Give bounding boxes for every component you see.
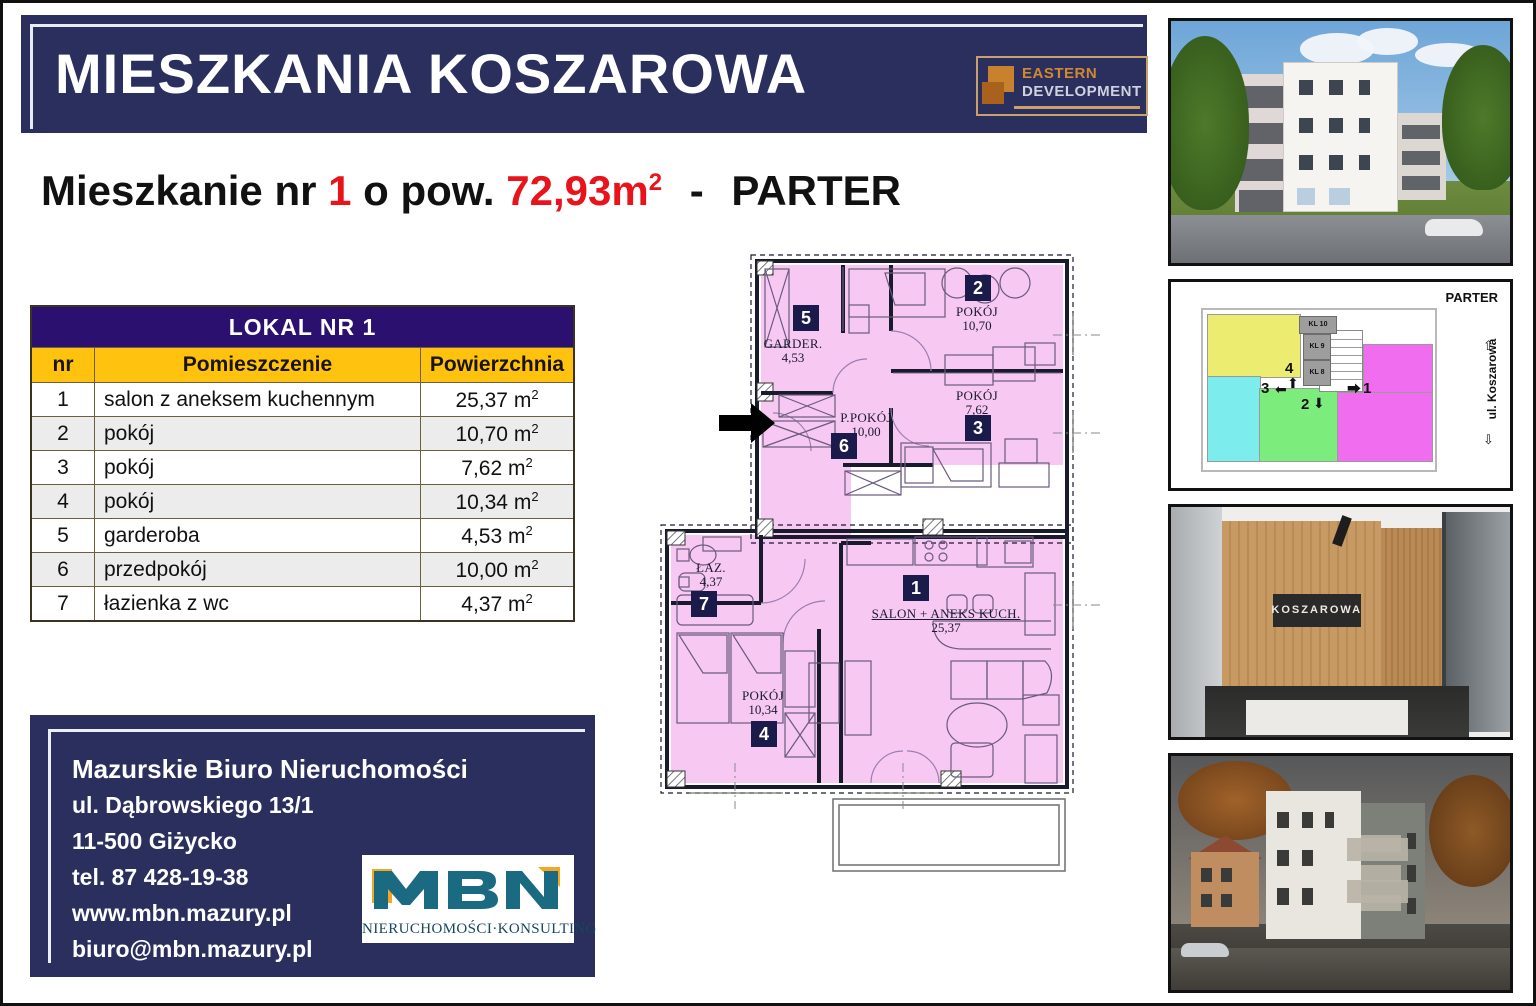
cell-room-name: przedpokój	[95, 553, 421, 587]
table-row: 7łazienka z wc4,37 m2	[31, 587, 574, 622]
lobby-sign-text: KOSZAROWA	[1271, 604, 1362, 616]
cell-room-name: pokój	[95, 451, 421, 485]
building-main	[1283, 62, 1398, 212]
lobby-sign: KOSZAROWA	[1273, 594, 1361, 626]
keyplan-unit-3[interactable]	[1207, 376, 1261, 462]
keyplan-number-2: 2	[1301, 396, 1309, 413]
cell-room-name: łazienka z wc	[95, 587, 421, 622]
table-row: 4pokój10,34 m2	[31, 485, 574, 519]
arrow-down-icon: ⇩	[1483, 432, 1494, 448]
cell-area: 10,00 m2	[421, 553, 575, 587]
header-banner: MIESZKANIA KOSZAROWA EASTERN DEVELOPMENT	[21, 15, 1147, 133]
room-label-pokoj-2: POKÓJ 10,70	[927, 305, 1027, 333]
room-label-salon: SALON + ANEKS KUCH. 25,37	[851, 607, 1041, 635]
table-row: 6przedpokój10,00 m2	[31, 553, 574, 587]
agency-city: 11-500 Giżycko	[72, 823, 468, 859]
car-icon	[1425, 219, 1483, 236]
logo-underline	[1014, 106, 1140, 109]
mbn-logo-subtitle: NIERUCHOMOŚCI·KONSULTING	[362, 921, 574, 938]
room-label-garderoba: GARDER. 4,53	[741, 337, 845, 365]
storage-kl-10: KL 10	[1299, 316, 1337, 334]
agency-contact-block: Mazurskie Biuro Nieruchomości ul. Dąbrow…	[30, 715, 595, 977]
logo-text-development: DEVELOPMENT	[1022, 83, 1142, 100]
cell-area: 25,37 m2	[421, 383, 575, 417]
keyplan-arrow-2: ⬇	[1313, 396, 1325, 410]
room-badge-2: 2	[965, 275, 991, 301]
room-badge-1: 1	[903, 575, 929, 601]
building-main-dusk	[1266, 791, 1361, 938]
agency-name: Mazurskie Biuro Nieruchomości	[72, 751, 468, 787]
street-indicator: ⇧ ul. Koszarowa ⇩	[1480, 338, 1502, 448]
table-title: LOKAL NR 1	[31, 306, 574, 348]
apartment-subtitle: Mieszkanie nr 1 o pow. 72,93m2 - PARTER	[41, 158, 901, 216]
neighbour-house	[1191, 852, 1259, 927]
keyplan-arrow-3: ⬅	[1275, 382, 1287, 396]
keyplan-number-1: 1	[1363, 380, 1371, 397]
subtitle-unit: m	[611, 167, 648, 214]
subtitle-middle: o pow.	[363, 167, 494, 214]
cell-nr: 7	[31, 587, 95, 622]
logo-text-eastern: EASTERN	[1022, 65, 1097, 82]
subtitle-area: 72,93	[506, 167, 611, 214]
subtitle-unit-exponent: 2	[649, 169, 662, 196]
subtitle-floor: PARTER	[731, 167, 901, 214]
cell-nr: 4	[31, 485, 95, 519]
room-badge-6: 6	[831, 433, 857, 459]
cell-room-name: garderoba	[95, 519, 421, 553]
cell-room-name: pokój	[95, 485, 421, 519]
page-title: MIESZKANIA KOSZAROWA	[55, 43, 807, 105]
keyplan-unit-1-lower[interactable]	[1337, 392, 1433, 462]
room-label-przedpokoj: P.POKÓJ 10,00	[811, 411, 921, 439]
cell-room-name: pokój	[95, 417, 421, 451]
cell-room-name: salon z aneksem kuchennym	[95, 383, 421, 417]
table-header-area: Powierzchnia	[421, 348, 575, 383]
lobby-interior-render: KOSZAROWA	[1168, 504, 1513, 740]
street-name: ul. Koszarowa	[1485, 331, 1499, 427]
keyplan-arrow-4: ⬆	[1287, 376, 1299, 390]
lobby-mat	[1246, 700, 1409, 735]
table-header-room: Pomieszczenie	[95, 348, 421, 383]
room-badge-5: 5	[793, 305, 819, 331]
subtitle-apartment-number: 1	[328, 167, 351, 214]
poster-page: MIESZKANIA KOSZAROWA EASTERN DEVELOPMENT…	[0, 0, 1536, 1006]
table-row: 3pokój7,62 m2	[31, 451, 574, 485]
logo-square-small-icon	[982, 82, 1004, 104]
cell-area: 4,37 m2	[421, 587, 575, 622]
cell-area: 10,34 m2	[421, 485, 575, 519]
building-render-daytime	[1168, 18, 1513, 266]
cell-nr: 3	[31, 451, 95, 485]
eastern-development-logo: EASTERN DEVELOPMENT	[976, 56, 1148, 116]
room-badge-3: 3	[965, 415, 991, 441]
storage-kl-8: KL 8	[1303, 360, 1331, 386]
wood-slat-wall	[1381, 528, 1442, 698]
table-row: 1salon z aneksem kuchennym25,37 m2	[31, 383, 574, 417]
storage-kl-9: KL 9	[1303, 334, 1331, 360]
apartment-floor-plan: GARDER. 4,53 5 POKÓJ 10,70 2 POKÓJ 7,62 …	[633, 243, 1115, 933]
room-label-pokoj-4: POKÓJ 10,34	[715, 689, 811, 717]
tree-icon	[1429, 775, 1513, 887]
keyplan-arrow-1: ⮕	[1347, 382, 1361, 396]
keyplan-unit-1-upper[interactable]	[1363, 344, 1433, 394]
cell-area: 10,70 m2	[421, 417, 575, 451]
mbn-logo: NIERUCHOMOŚCI·KONSULTING	[362, 855, 574, 943]
table-header-nr: nr	[31, 348, 95, 383]
table-row: 5garderoba4,53 m2	[31, 519, 574, 553]
cell-nr: 6	[31, 553, 95, 587]
room-badge-4: 4	[751, 721, 777, 747]
agency-street: ul. Dąbrowskiego 13/1	[72, 787, 468, 823]
building-render-dusk	[1168, 753, 1513, 993]
building-wing-dusk	[1351, 803, 1426, 939]
room-label-pokoj-3: POKÓJ 7,62	[927, 389, 1027, 417]
mbn-letters-icon	[362, 859, 574, 917]
keyplan-number-3: 3	[1261, 380, 1269, 397]
cell-area: 7,62 m2	[421, 451, 575, 485]
table-row: 2pokój10,70 m2	[31, 417, 574, 451]
subtitle-dash: -	[690, 167, 704, 214]
cell-nr: 1	[31, 383, 95, 417]
cell-nr: 2	[31, 417, 95, 451]
room-badge-7: 7	[691, 591, 717, 617]
cloud	[1357, 28, 1418, 55]
keyplan-title: PARTER	[1446, 290, 1498, 305]
room-label-lazienka: ŁAZ. 4,37	[663, 561, 759, 589]
keyplan-unit-2[interactable]	[1259, 388, 1339, 462]
room-schedule-table: LOKAL NR 1nrPomieszczeniePowierzchnia1sa…	[30, 305, 575, 622]
cell-area: 4,53 m2	[421, 519, 575, 553]
cell-nr: 5	[31, 519, 95, 553]
floor-key-plan: PARTER KL 10 KL 9 KL 8 4 ⬆ 3 ⬅	[1168, 279, 1513, 491]
building-wing-right	[1398, 113, 1445, 200]
keyplan-outline: KL 10 KL 9 KL 8 4 ⬆ 3 ⬅ 2 ⬇ 1 ⮕	[1201, 308, 1437, 472]
car-icon	[1181, 943, 1228, 957]
subtitle-prefix: Mieszkanie nr	[41, 167, 316, 214]
tree-icon	[1442, 45, 1513, 190]
